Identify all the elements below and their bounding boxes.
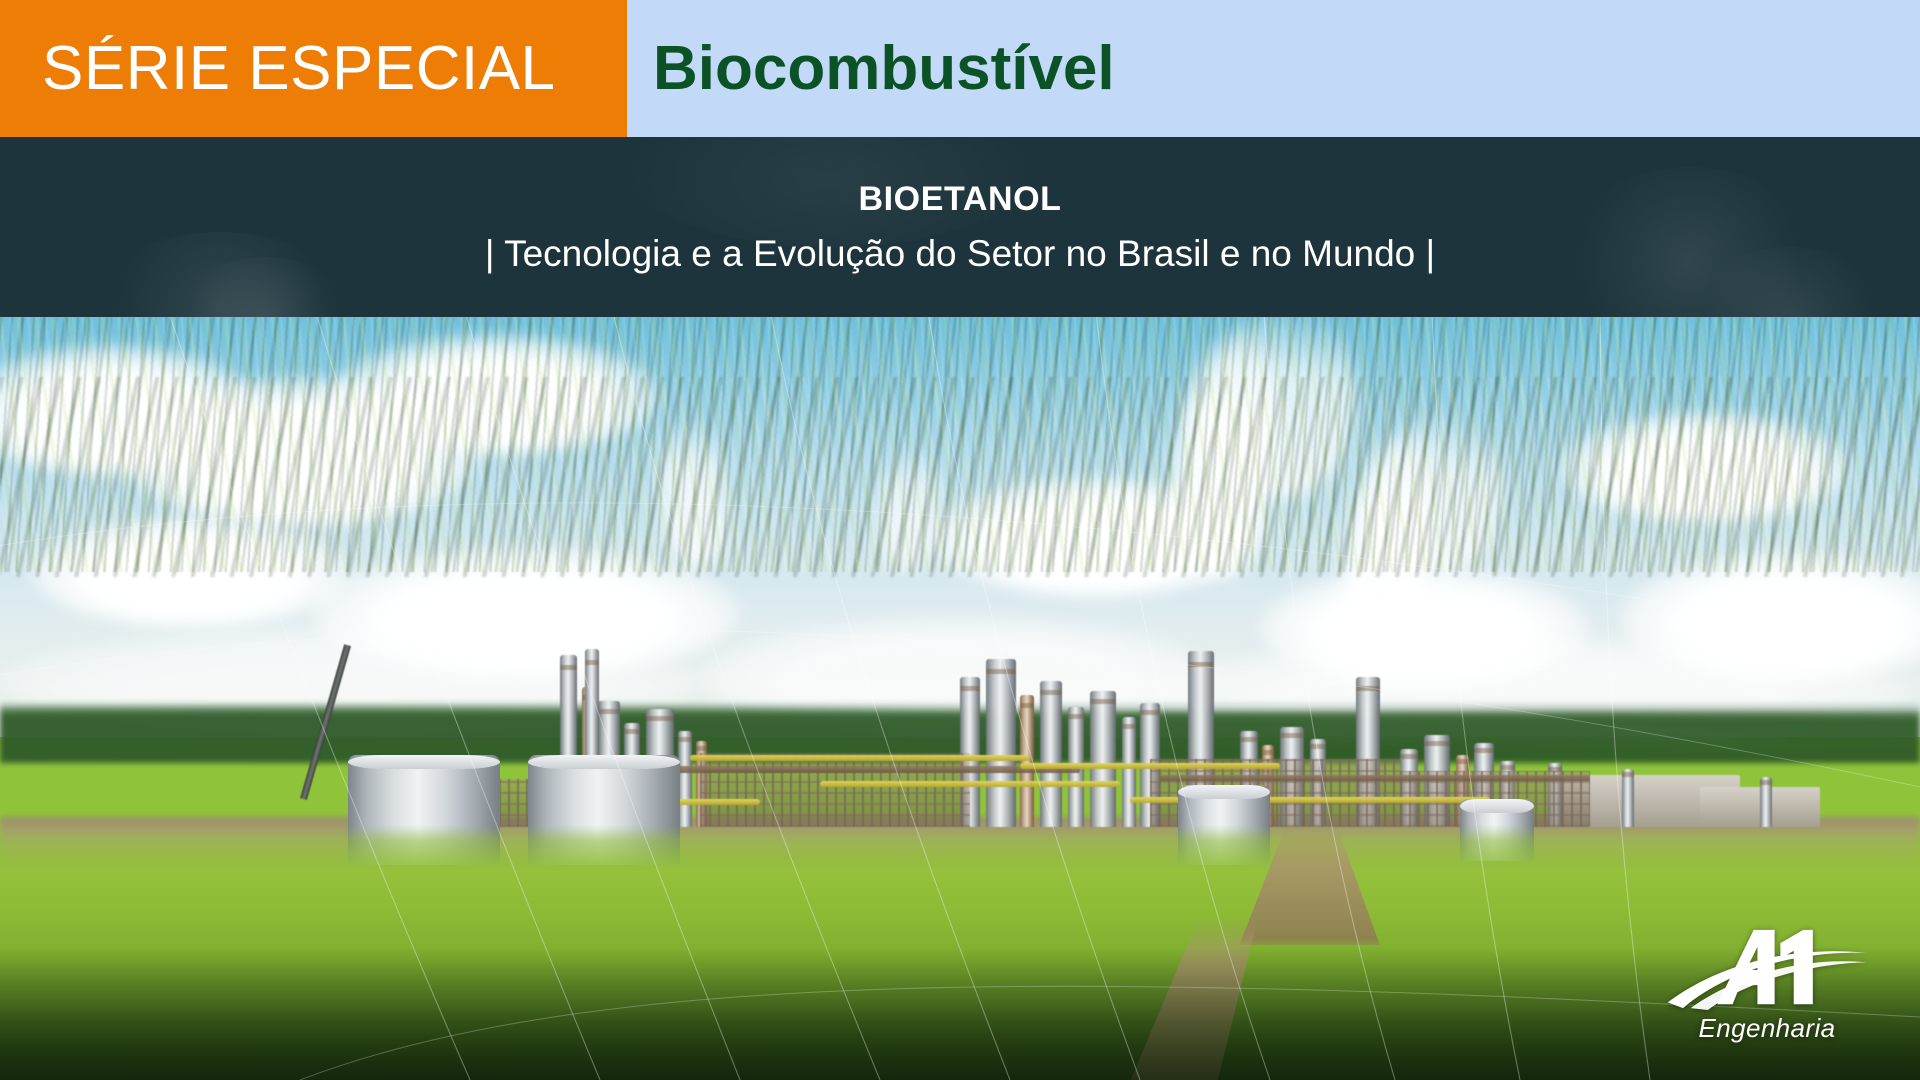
logo-wordmark: Engenharia: [1662, 1013, 1872, 1044]
slide: SÉRIE ESPECIAL Biocombustível BIOETANOL …: [0, 0, 1920, 1080]
overlay-arc-lines: [0, 317, 1920, 1080]
a1-logo-mark-icon: [1662, 922, 1872, 1014]
series-kicker-label: SÉRIE ESPECIAL: [42, 38, 556, 100]
series-kicker-block: SÉRIE ESPECIAL: [0, 0, 627, 137]
page-title: Biocombustível: [653, 38, 1115, 100]
logo: Engenharia: [1662, 922, 1872, 1044]
subtitle-text-group: BIOETANOL | Tecnologia e a Evolução do S…: [0, 137, 1920, 317]
subtitle-heading: BIOETANOL: [858, 180, 1061, 219]
subtitle-description: | Tecnologia e a Evolução do Setor no Br…: [485, 230, 1435, 278]
slide-header: SÉRIE ESPECIAL Biocombustível: [0, 0, 1920, 137]
header-title-block: Biocombustível: [627, 0, 1920, 137]
hero-photo: Engenharia: [0, 317, 1920, 1080]
subtitle-band: BIOETANOL | Tecnologia e a Evolução do S…: [0, 137, 1920, 317]
